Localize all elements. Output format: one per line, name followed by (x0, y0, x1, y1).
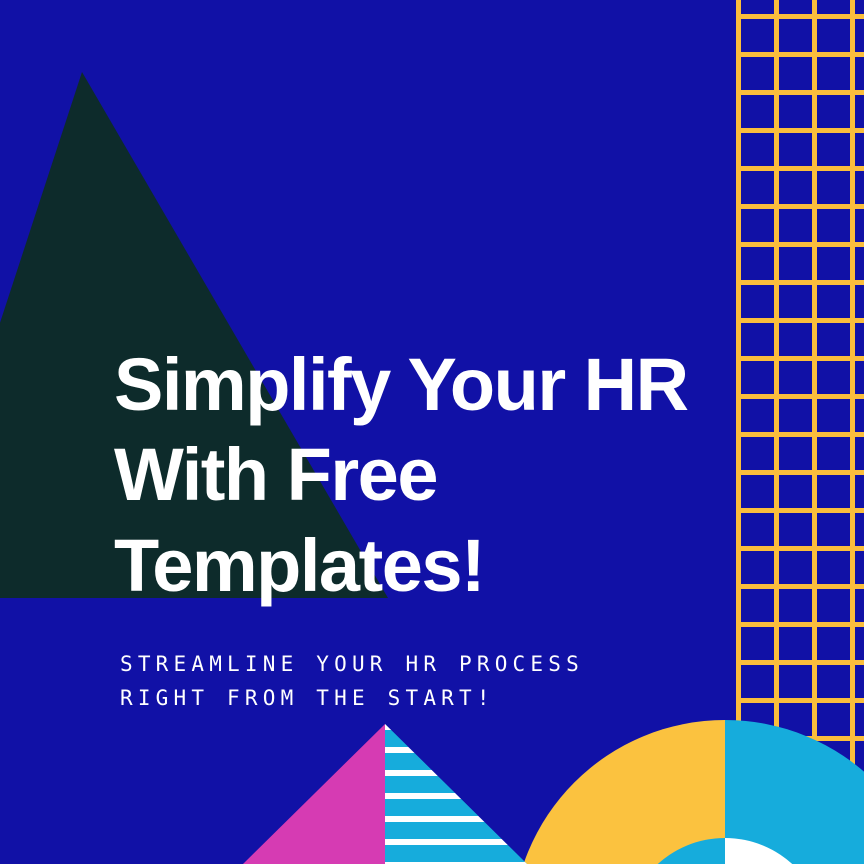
text-content-block: Simplify Your HR With Free Templates! ST… (114, 340, 734, 715)
page-subtitle: STREAMLINE YOUR HR PROCESS RIGHT FROM TH… (120, 647, 734, 715)
small-semicircle-right-half (725, 838, 825, 864)
bottom-triangle-striped-half (385, 724, 527, 864)
small-semicircle-left-half (625, 838, 725, 864)
page-title: Simplify Your HR With Free Templates! (114, 340, 734, 611)
small-two-tone-semicircle (625, 838, 825, 864)
poster-canvas: Simplify Your HR With Free Templates! ST… (0, 0, 864, 864)
bottom-triangle-magenta-half (243, 724, 385, 864)
